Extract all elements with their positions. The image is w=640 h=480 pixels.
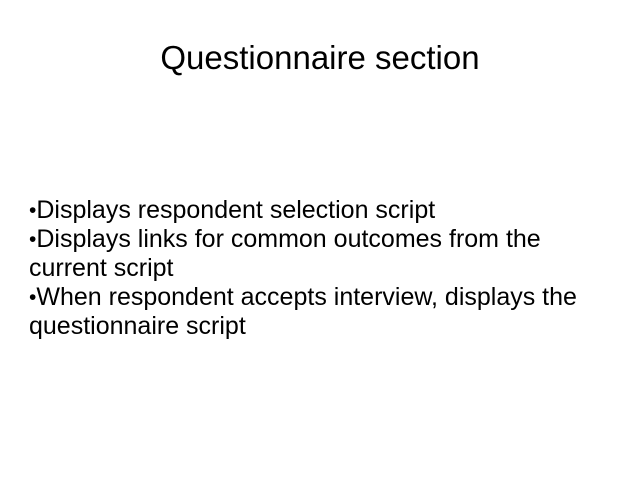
list-item: •When respondent accepts interview, disp… [29,283,621,312]
list-item-label: Displays links for common outcomes from … [36,225,540,253]
page-title: Questionnaire section [0,37,640,79]
list-item-label: Displays respondent selection script [36,196,435,224]
slide-canvas: Questionnaire section •Displays responde… [0,0,640,480]
list-item-wrap-line: current script [29,254,621,283]
list-item-wrap-line: questionnaire script [29,312,621,341]
list-item: •Displays respondent selection script [29,196,621,225]
slide-body-text: •Displays respondent selection script •D… [29,196,621,341]
list-item-label: When respondent accepts interview, displ… [36,283,577,311]
list-item: •Displays links for common outcomes from… [29,225,621,254]
